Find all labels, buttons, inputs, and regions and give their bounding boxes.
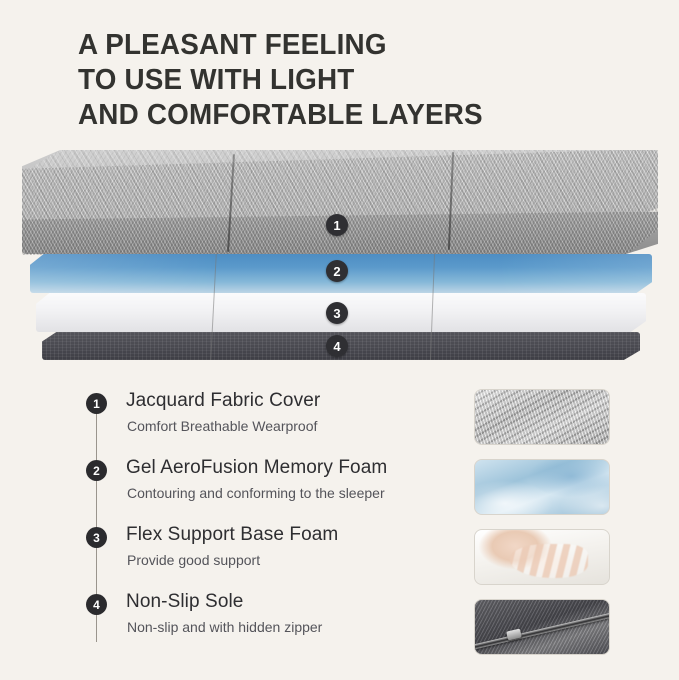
feature-badge-1: 1 [86,393,107,414]
layer-1-jacquard-cover [22,150,658,255]
diagram-badge-3: 3 [326,302,348,324]
hand-pressing-foam-thumbnail[interactable] [474,529,610,585]
feature-subtitle-3: Provide good support [127,552,260,568]
feature-item-2[interactable]: 2 Gel AeroFusion Memory Foam Contouring … [86,457,436,524]
blue-gel-foam-image [475,460,609,514]
diagram-badge-4: 4 [326,335,348,357]
feature-badge-4: 4 [86,594,107,615]
feature-title-1: Jacquard Fabric Cover [126,390,320,412]
feature-badge-2: 2 [86,460,107,481]
feature-subtitle-4: Non-slip and with hidden zipper [127,619,322,635]
headline-line-2: TO USE WITH LIGHT [78,63,616,98]
feature-title-3: Flex Support Base Foam [126,524,338,546]
feature-subtitle-1: Comfort Breathable Wearproof [127,418,317,434]
feature-badge-3: 3 [86,527,107,548]
diagram-badge-2: 2 [326,260,348,282]
feature-item-3[interactable]: 3 Flex Support Base Foam Provide good su… [86,524,436,591]
hidden-zipper-thumbnail[interactable] [474,599,610,655]
headline-line-1: A PLEASANT FEELING [78,28,616,63]
feature-item-4[interactable]: 4 Non-Slip Sole Non-slip and with hidden… [86,591,436,658]
headline-line-3: AND COMFORTABLE LAYERS [78,98,616,133]
fabric-texture-thumbnail[interactable] [474,389,610,445]
feature-title-4: Non-Slip Sole [126,591,243,613]
feature-title-2: Gel AeroFusion Memory Foam [126,457,387,479]
feature-subtitle-2: Contouring and conforming to the sleeper [127,485,385,501]
folding-mattress-layer-diagram: 1 2 3 4 [0,148,679,373]
thumbnail-column [474,389,608,669]
feature-item-1[interactable]: 1 Jacquard Fabric Cover Comfort Breathab… [86,390,436,457]
hidden-zipper-image [475,600,609,654]
diagram-badge-1: 1 [326,214,348,236]
hand-pressing-foam-image [475,530,609,584]
blue-gel-foam-thumbnail[interactable] [474,459,610,515]
page-title: A PLEASANT FEELING TO USE WITH LIGHT AND… [78,28,638,133]
feature-list: 1 Jacquard Fabric Cover Comfort Breathab… [86,390,436,658]
fabric-texture-image [475,390,609,444]
